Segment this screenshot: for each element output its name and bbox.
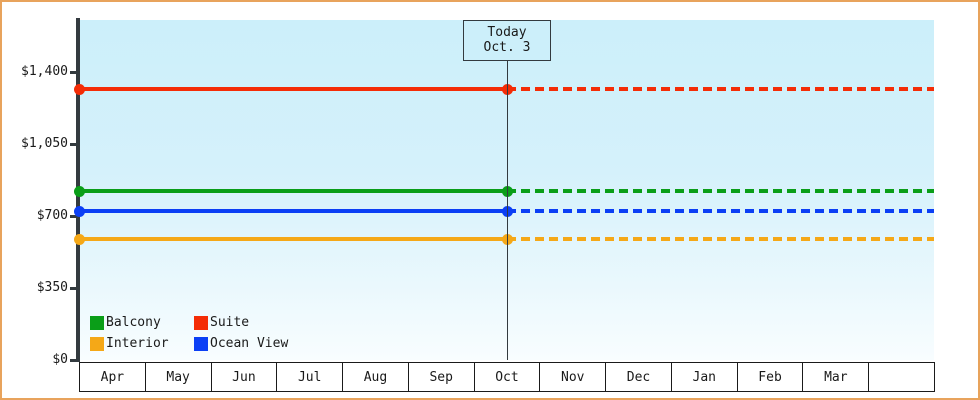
- today-label-line2: Oct. 3: [474, 40, 540, 55]
- series-line-solid: [79, 87, 507, 91]
- series-line-solid: [79, 209, 507, 213]
- y-tick-label: $700: [2, 209, 68, 222]
- legend-swatch-icon: [194, 337, 208, 351]
- y-tick-label: $1,050: [2, 137, 68, 150]
- y-tick-mark: [70, 287, 80, 290]
- y-tick-mark: [70, 143, 80, 146]
- month-cell[interactable]: Feb: [738, 363, 804, 391]
- series-start-dot: [74, 234, 85, 245]
- month-cell[interactable]: Nov: [540, 363, 606, 391]
- y-tick-label: $1,400: [2, 65, 68, 78]
- month-cell[interactable]: Sep: [409, 363, 475, 391]
- y-tick-label: $0: [2, 353, 68, 366]
- month-cell[interactable]: Jul: [277, 363, 343, 391]
- legend-swatch-icon: [90, 316, 104, 330]
- month-cell[interactable]: Mar: [803, 363, 869, 391]
- legend-swatch-icon: [90, 337, 104, 351]
- month-cell[interactable]: Jun: [212, 363, 278, 391]
- series-line-dashed: [507, 87, 934, 91]
- legend-item-label: Ocean View: [210, 337, 288, 351]
- y-tick-label: $350: [2, 281, 68, 294]
- month-cell[interactable]: Aug: [343, 363, 409, 391]
- legend-item-ocean-view[interactable]: Ocean View: [194, 333, 288, 354]
- price-chart: $1,400$1,050$700$350$0 Today Oct. 3 Balc…: [0, 0, 980, 400]
- legend-item-interior[interactable]: Interior: [90, 333, 186, 354]
- today-label-box: Today Oct. 3: [463, 20, 551, 61]
- series-line-solid: [79, 237, 507, 241]
- legend-item-label: Balcony: [106, 316, 161, 330]
- today-vertical-line: [507, 60, 508, 360]
- series-line-dashed: [507, 189, 934, 193]
- legend: BalconySuiteInteriorOcean View: [90, 312, 288, 354]
- month-cell[interactable]: Apr: [80, 363, 146, 391]
- month-cell[interactable]: [869, 363, 934, 391]
- series-start-dot: [74, 206, 85, 217]
- month-axis: AprMayJunJulAugSepOctNovDecJanFebMar: [79, 362, 935, 392]
- series-line-solid: [79, 189, 507, 193]
- legend-item-label: Interior: [106, 337, 169, 351]
- today-label-line1: Today: [474, 25, 540, 40]
- legend-item-balcony[interactable]: Balcony: [90, 312, 186, 333]
- month-cell[interactable]: Oct: [475, 363, 541, 391]
- month-cell[interactable]: Dec: [606, 363, 672, 391]
- legend-item-label: Suite: [210, 316, 249, 330]
- month-cell[interactable]: Jan: [672, 363, 738, 391]
- legend-item-suite[interactable]: Suite: [194, 312, 288, 333]
- series-line-dashed: [507, 209, 934, 213]
- legend-swatch-icon: [194, 316, 208, 330]
- y-tick-mark: [70, 71, 80, 74]
- month-cell[interactable]: May: [146, 363, 212, 391]
- series-line-dashed: [507, 237, 934, 241]
